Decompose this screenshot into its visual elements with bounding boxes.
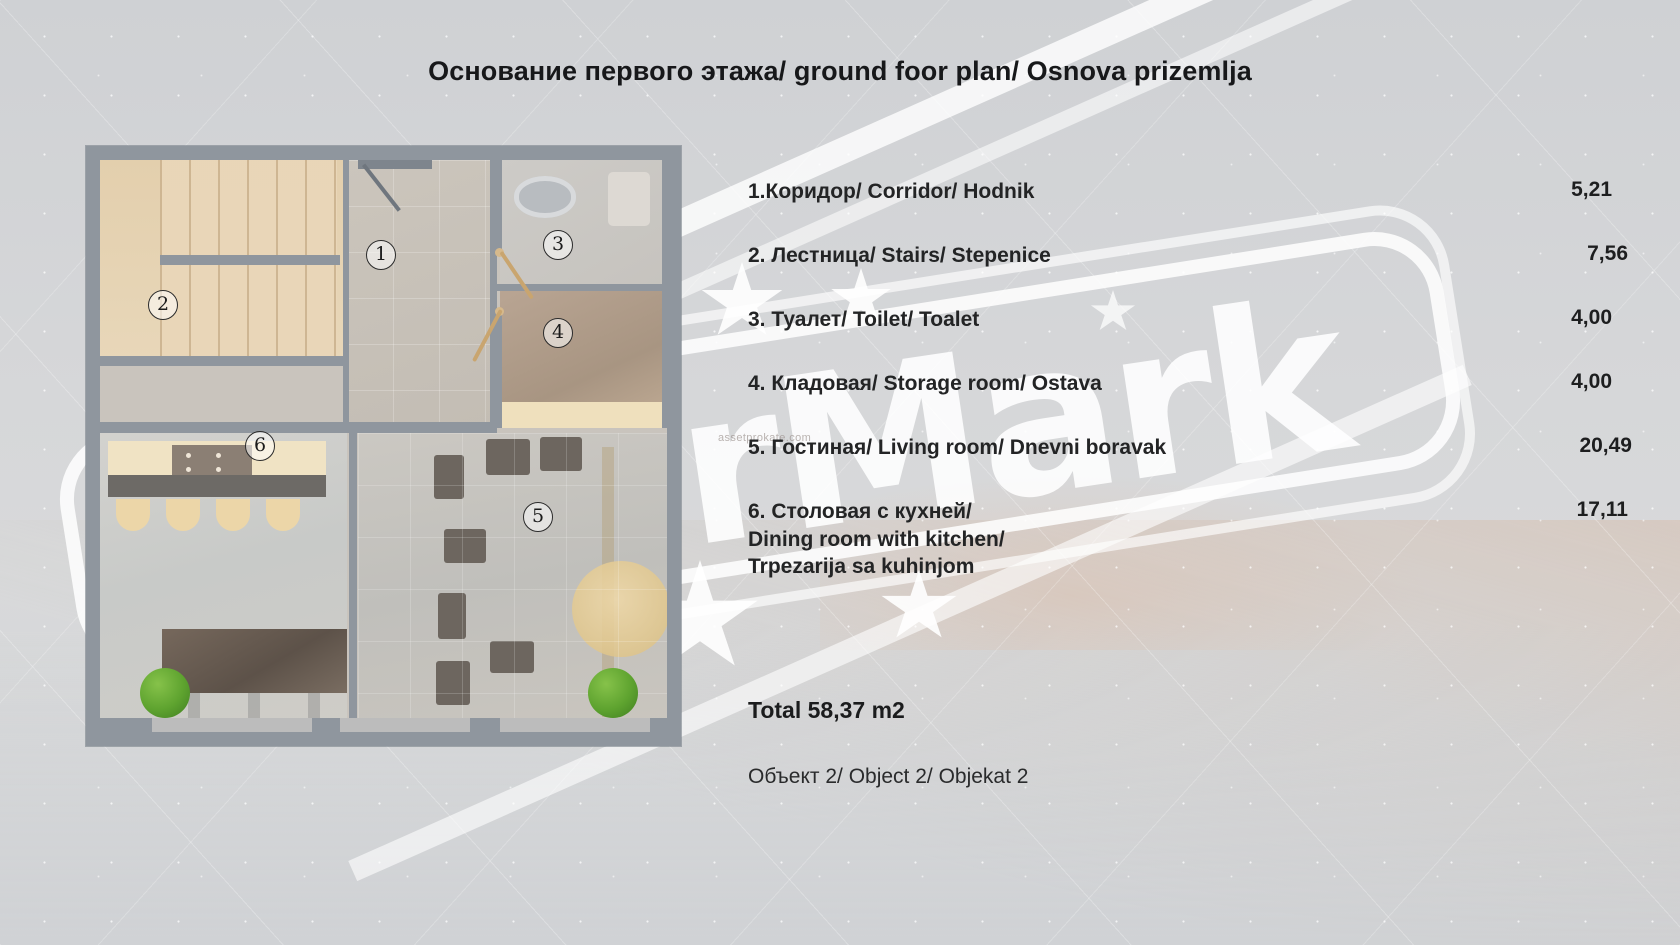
kitchen-counter-top	[108, 475, 326, 497]
room-badge-storage: 4	[543, 318, 573, 348]
object-note: Объект 2/ Object 2/ Objekat 2	[748, 765, 1028, 789]
kitchen-hob-icon	[172, 445, 252, 479]
room-badge-corridor: 1	[366, 240, 396, 270]
legend-label: 2. Лестница/ Stairs/ Stepenice	[748, 242, 1051, 270]
toilet-bowl-icon	[514, 176, 576, 218]
legend-label: 4. Кладовая/ Storage room/ Ostava	[748, 370, 1102, 398]
legend-row: 2. Лестница/ Stairs/ Stepenice 7,56	[748, 242, 1628, 270]
dining-table	[162, 629, 347, 693]
legend-row: 3. Туалет/ Toilet/ Toalet 4,00	[748, 306, 1628, 334]
legend-row: 1.Коридор/ Corridor/ Hodnik 5,21	[748, 178, 1628, 206]
dining-chair	[490, 641, 534, 673]
bar-stool	[216, 499, 250, 531]
bar-stool	[166, 499, 200, 531]
legend-row: 6. Столовая с кухней/ Dining room with k…	[748, 498, 1628, 582]
legend-area-value: 20,49	[1555, 434, 1632, 458]
wall-segment	[495, 310, 502, 428]
legend-label: 3. Туалет/ Toilet/ Toalet	[748, 306, 979, 334]
room-toilet	[500, 160, 667, 290]
dining-chair	[444, 529, 486, 563]
bar-stool	[266, 499, 300, 531]
room-dining-kitchen	[100, 433, 347, 732]
legend-row: 5. Гостиная/ Living room/ Dnevni boravak…	[748, 434, 1628, 462]
stair-landing	[160, 255, 340, 265]
wall-segment	[495, 160, 502, 252]
window-sill	[340, 718, 470, 732]
window-sill	[500, 718, 650, 732]
legend-area-value: 4,00	[1547, 306, 1612, 330]
potted-plant-icon	[588, 668, 638, 718]
legend-area-value: 7,56	[1563, 242, 1628, 266]
room-storage	[500, 290, 667, 428]
wall-segment	[349, 433, 357, 732]
legend-label: 1.Коридор/ Corridor/ Hodnik	[748, 178, 1034, 206]
legend-area-value: 5,21	[1547, 178, 1612, 202]
wall-segment	[662, 160, 667, 428]
floor-plan-drawing: 1 2 3 4 5 6	[86, 146, 681, 746]
legend-row: 4. Кладовая/ Storage room/ Ostava 4,00	[748, 370, 1628, 398]
room-badge-kitchen: 6	[245, 431, 275, 461]
potted-plant-icon	[140, 668, 190, 718]
room-badge-living: 5	[523, 502, 553, 532]
legend-label: 6. Столовая с кухней/ Dining room with k…	[748, 498, 1005, 582]
room-badge-stairs: 2	[148, 290, 178, 320]
total-area: Total 58,37 m2	[748, 697, 905, 724]
bar-stool	[116, 499, 150, 531]
wall-segment	[343, 160, 349, 428]
legend-area-value: 4,00	[1547, 370, 1612, 394]
wall-segment	[100, 422, 497, 433]
wall-segment	[100, 356, 347, 366]
legend-label: 5. Гостиная/ Living room/ Dnevni boravak	[748, 434, 1166, 462]
storage-shelf	[500, 402, 667, 428]
dining-chair	[434, 455, 464, 499]
window-sill	[152, 718, 312, 732]
legend-area-value: 17,11	[1553, 498, 1628, 522]
room-stairs	[100, 160, 347, 360]
dining-chair	[540, 437, 582, 471]
dining-chair	[438, 593, 466, 639]
page-title: Основание первого этажа/ ground foor pla…	[0, 56, 1680, 87]
dining-chair	[486, 439, 530, 475]
room-corridor	[347, 160, 492, 428]
floor-plan-interior: 1 2 3 4 5 6	[100, 160, 667, 732]
room-legend: 1.Коридор/ Corridor/ Hodnik 5,21 2. Лест…	[748, 178, 1628, 611]
floor-plan-page: WaterMark assetprokate.com Основание пер…	[0, 0, 1680, 945]
dining-chair	[436, 661, 470, 705]
sink-icon	[608, 172, 650, 226]
round-rug	[572, 561, 667, 657]
room-badge-toilet: 3	[543, 230, 573, 260]
